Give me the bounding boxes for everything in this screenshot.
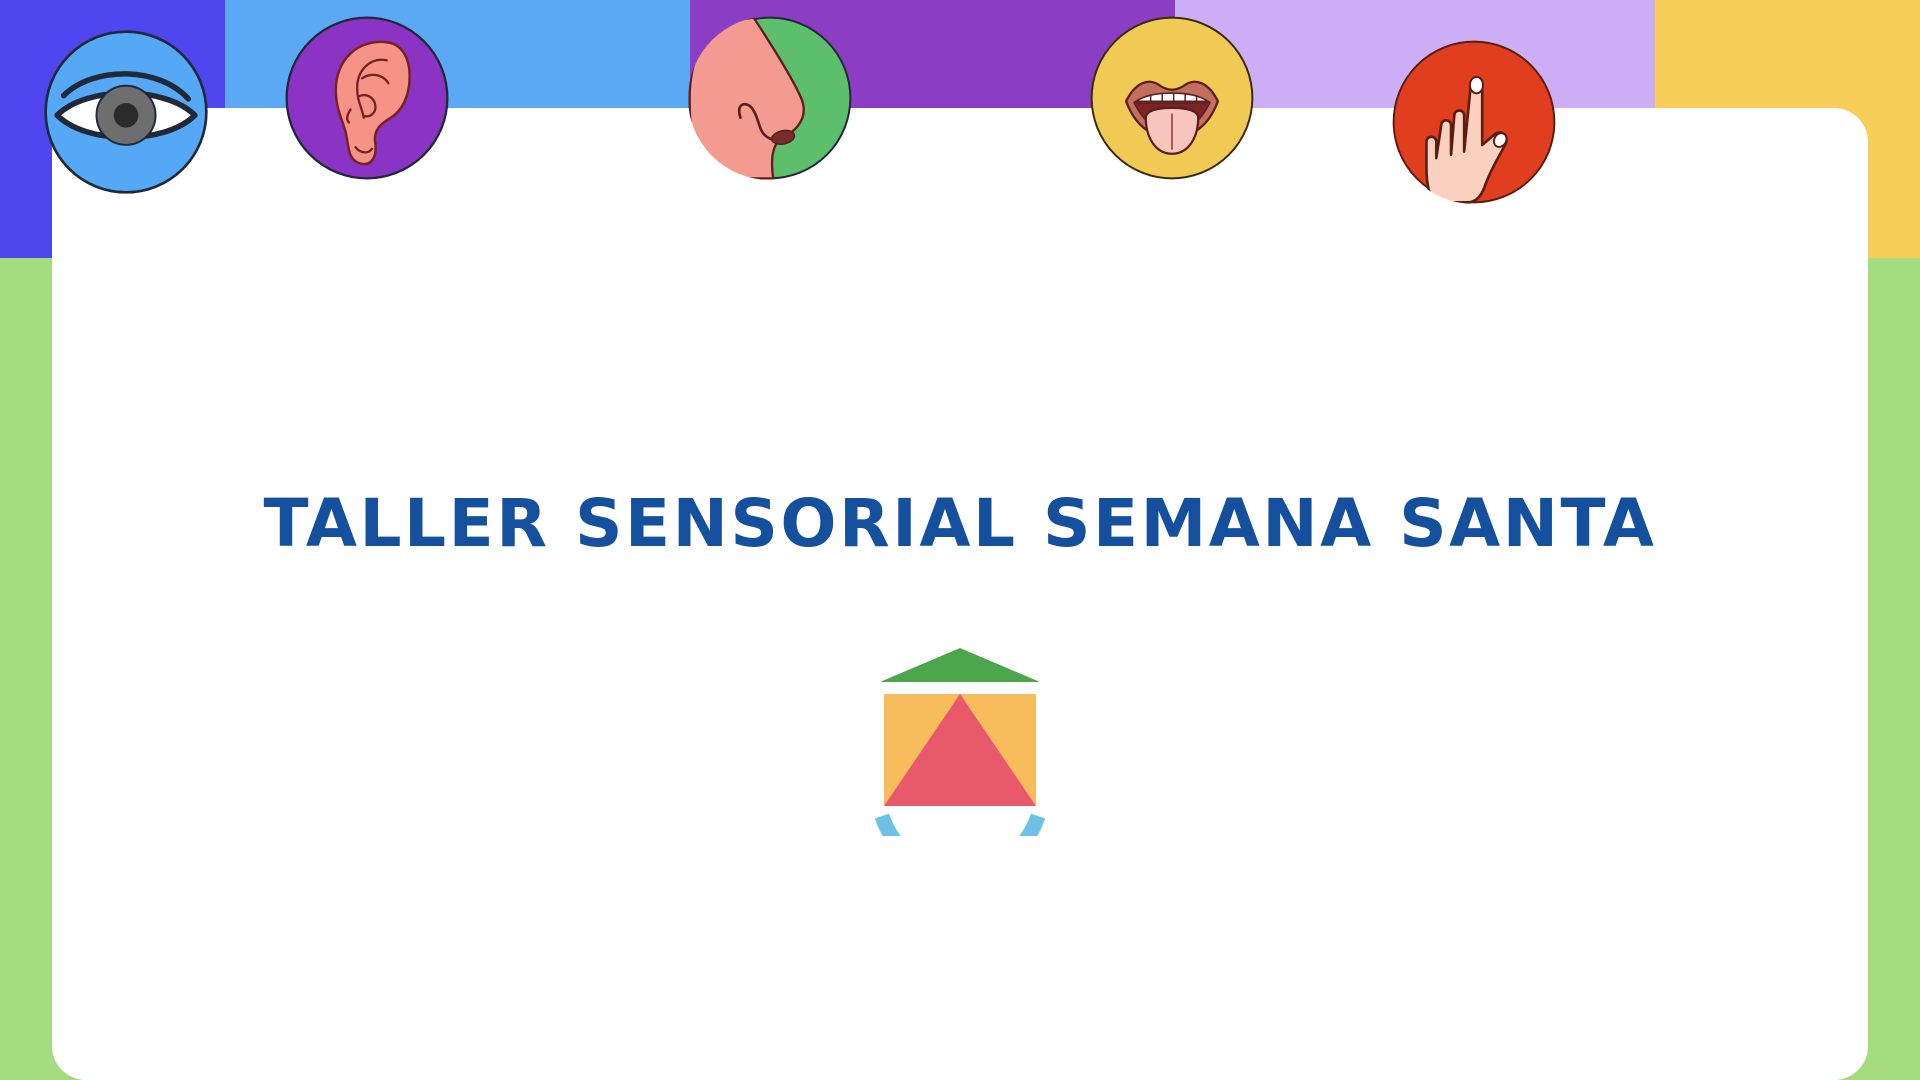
- sensory-workshop-logo: [860, 636, 1060, 836]
- logo-arc: [882, 816, 1038, 836]
- nose-icon: [688, 16, 852, 180]
- content-card: [52, 108, 1868, 1080]
- slide-canvas: TALLER SENSORIAL SEMANA SANTA: [0, 0, 1920, 1080]
- eye-icon: [44, 30, 208, 194]
- mouth-icon: [1090, 16, 1254, 180]
- hand-icon: [1392, 40, 1556, 204]
- ear-icon: [285, 16, 449, 180]
- page-title: TALLER SENSORIAL SEMANA SANTA: [0, 485, 1920, 562]
- logo-roof-triangle: [880, 648, 1040, 682]
